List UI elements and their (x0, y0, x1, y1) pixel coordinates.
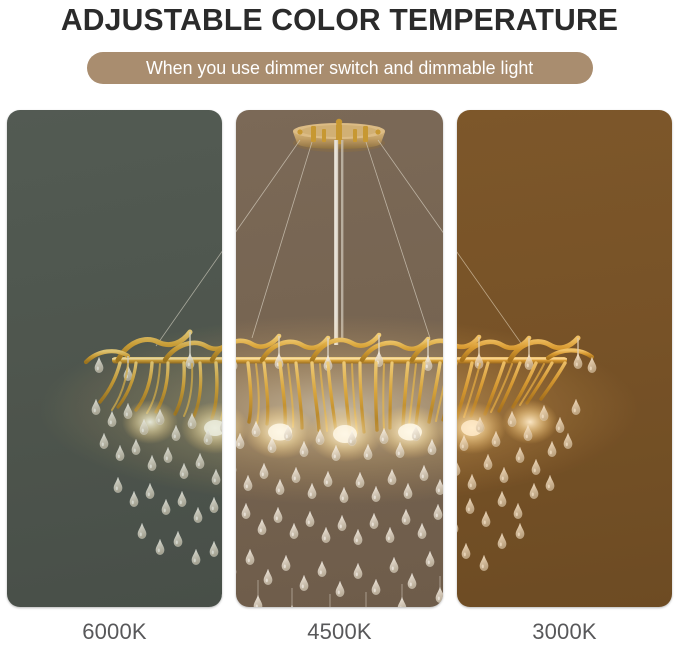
panel-background-3000k (457, 110, 672, 607)
panel-label-6000k: 6000K (7, 618, 222, 646)
color-temperature-panel-6000k (7, 110, 222, 607)
subtitle-badge: When you use dimmer switch and dimmable … (87, 52, 593, 84)
color-tint-overlay-4500k (236, 110, 443, 607)
panel-background-6000k (7, 110, 222, 607)
panel-label-3000k: 3000K (457, 618, 672, 646)
color-tint-overlay-6000k (7, 110, 222, 607)
subtitle-badge-label: When you use dimmer switch and dimmable … (146, 58, 533, 78)
color-temperature-panel-3000k (457, 110, 672, 607)
color-temperature-panel-4500k (236, 110, 443, 607)
page-title: ADJUSTABLE COLOR TEMPERATURE (10, 2, 669, 38)
color-tint-overlay-3000k (457, 110, 672, 607)
color-temperature-panel-group (0, 110, 679, 607)
panel-label-4500k: 4500K (236, 618, 443, 646)
panel-background-4500k (236, 110, 443, 607)
